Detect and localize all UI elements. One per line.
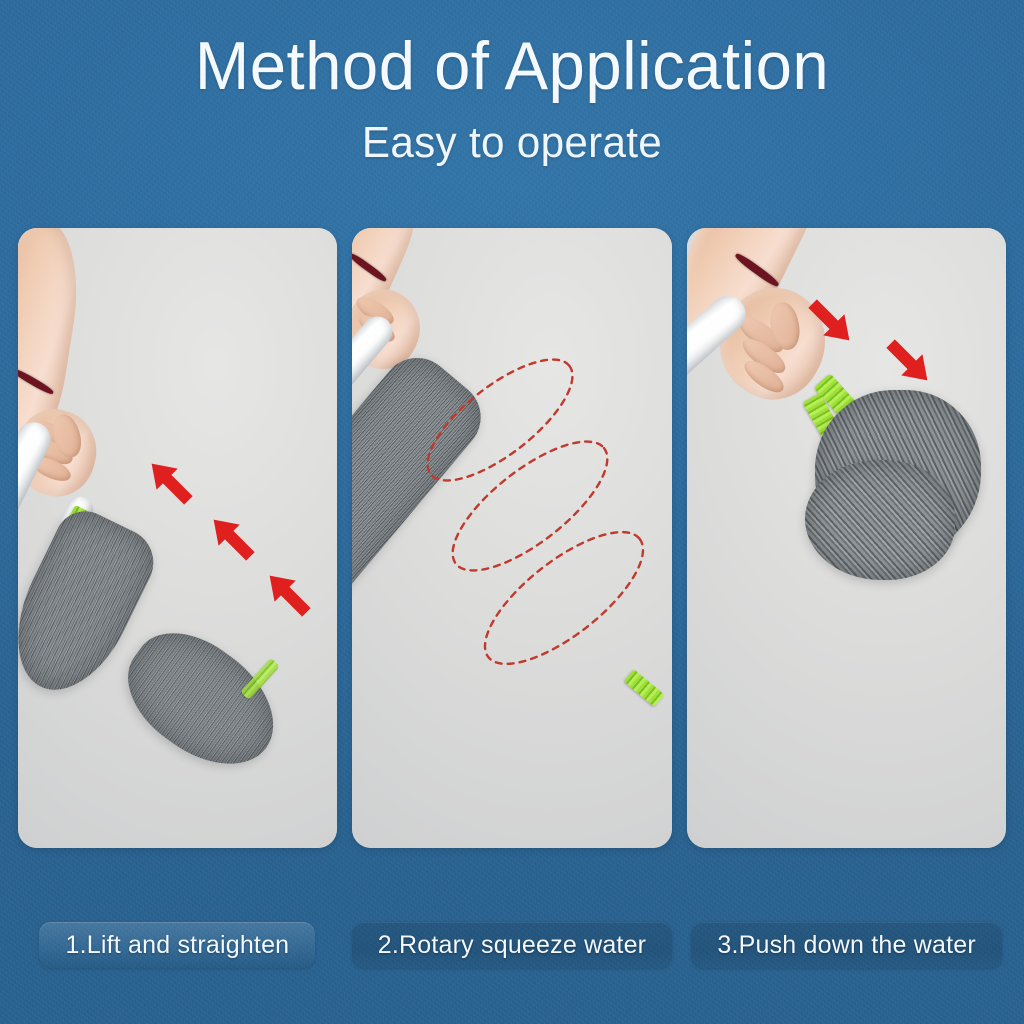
step-panel-2[interactable] [352,228,671,848]
step-panels [18,228,1006,848]
step-panel-3[interactable] [687,228,1006,848]
compressed-mop-lobe [805,460,955,580]
mop-strands-lower [107,611,298,789]
direction-arrow-1 [799,290,863,354]
direction-arrow-3 [256,562,320,626]
step-caption-2: 2.Rotary squeeze water [352,922,672,968]
caption-slot-1: 1.Lift and straighten [18,915,337,975]
step-photo-3 [687,228,1006,848]
direction-arrow-2 [877,330,941,394]
caption-slot-2: 2.Rotary squeeze water [352,915,672,975]
step-panel-1[interactable] [18,228,337,848]
rotation-spiral [352,228,671,848]
page-title: Method of Application [20,30,1003,102]
step-caption-3: 3.Push down the water [691,922,1002,968]
page-subtitle: Easy to operate [20,118,1003,168]
infographic-page: Method of Application Easy to operate [0,0,1024,1024]
step-captions: 1.Lift and straighten 2.Rotary squeeze w… [18,915,1006,975]
header: Method of Application Easy to operate [0,0,1024,168]
direction-arrow-1 [138,450,202,514]
step-photo-1 [18,228,337,848]
direction-arrow-2 [200,506,264,570]
caption-slot-3: 3.Push down the water [687,915,1006,975]
step-photo-2 [352,228,671,848]
step-caption-1: 1.Lift and straighten [39,922,315,968]
